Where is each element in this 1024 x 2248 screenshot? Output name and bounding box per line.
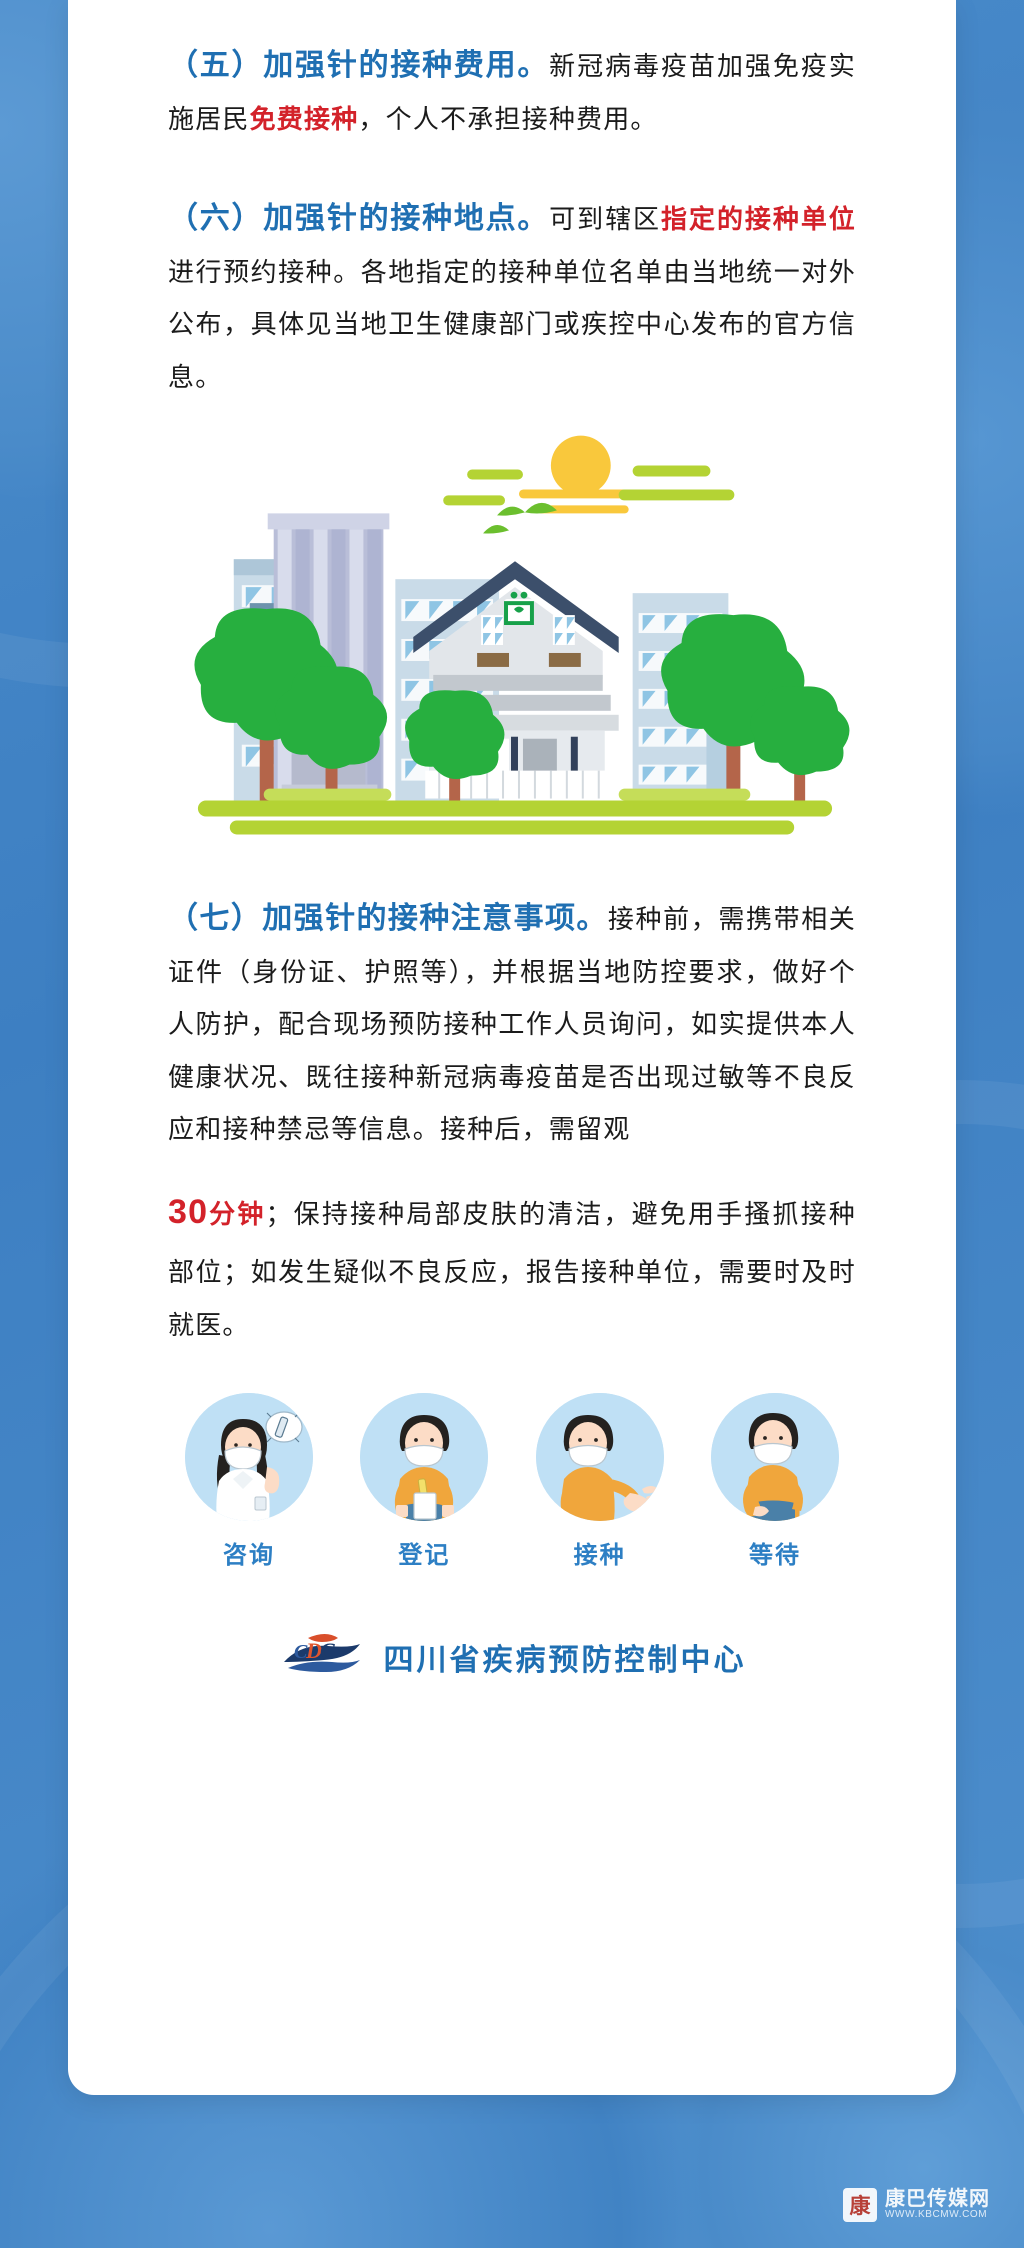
section-seven: （七）加强针的接种注意事项。接种前，需携带相关证件（身份证、护照等），并根据当地…	[168, 893, 856, 1351]
vaccination-steps: 咨询	[168, 1393, 856, 1570]
birds-icon	[483, 503, 557, 534]
section-five-heading: （五）加强针的接种费用。	[168, 49, 549, 82]
observation-minutes-number: 30	[168, 1193, 208, 1231]
svg-text:C: C	[320, 1638, 335, 1663]
watermark-name: 康巴传媒网	[885, 2189, 990, 2211]
step-consult: 咨询	[174, 1393, 324, 1570]
watermark: 康 康巴传媒网 WWW.KBCMW.COM	[843, 2188, 990, 2222]
footer: D C C 四川省疾病预防控制中心	[168, 1628, 856, 1725]
step-wait: 等待	[700, 1393, 850, 1570]
footer-organization-name: 四川省疾病预防控制中心	[384, 1635, 747, 1679]
section-five-lead: 新冠病毒	[549, 51, 661, 81]
sichuan-cdc-logo: D C C	[278, 1628, 366, 1685]
wait-icon	[711, 1393, 839, 1521]
step-injection: 接种	[525, 1393, 675, 1570]
illustration-vaccination-clinic	[168, 429, 856, 859]
observation-minutes-unit: 分钟	[208, 1199, 265, 1229]
watermark-badge: 康	[843, 2188, 877, 2222]
section-five-body-2: ，个人不承担接种费用。	[358, 104, 657, 134]
step-register: 登记	[349, 1393, 499, 1570]
consult-icon	[185, 1393, 313, 1521]
section-seven-tail: ；保持接种局部皮肤的清洁，避免用手搔抓接种部位；如发生疑似不良反应，报告接种单位…	[168, 1199, 856, 1340]
section-six-highlight: 指定的接种单位	[661, 204, 856, 234]
section-six-lead: 可到辖区	[549, 204, 661, 234]
register-icon	[360, 1393, 488, 1521]
step-injection-label: 接种	[525, 1535, 675, 1570]
section-six-body: 进行预约接种。各地指定的接种单位名单由当地统一对外公布，具体见当地卫生健康部门或…	[168, 257, 856, 392]
syringe-bubble	[266, 1412, 302, 1442]
section-six-heading: （六）加强针的接种地点。	[168, 202, 549, 235]
injection-icon	[536, 1393, 664, 1521]
svg-text:C: C	[294, 1641, 308, 1663]
poster-card: （五）加强针的接种费用。新冠病毒疫苗加强免疫实施居民免费接种，个人不承担接种费用…	[68, 0, 956, 2095]
section-six: （六）加强针的接种地点。可到辖区指定的接种单位进行预约接种。各地指定的接种单位名…	[168, 193, 856, 403]
section-five-highlight: 免费接种	[250, 104, 359, 134]
tree-small-right	[750, 686, 849, 802]
section-seven-body: 种前，需携带相关证件（身份证、护照等），并根据当地防控要求，做好个人防护，配合现…	[168, 904, 856, 1144]
step-wait-label: 等待	[700, 1535, 850, 1570]
section-seven-lead: 接	[608, 904, 636, 934]
watermark-url: WWW.KBCMW.COM	[885, 2210, 990, 2221]
sun-icon	[519, 436, 645, 514]
section-seven-heading: （七）加强针的接种注意事项。	[168, 902, 608, 935]
step-register-label: 登记	[349, 1535, 499, 1570]
step-consult-label: 咨询	[174, 1535, 324, 1570]
section-five: （五）加强针的接种费用。新冠病毒疫苗加强免疫实施居民免费接种，个人不承担接种费用…	[168, 40, 856, 145]
